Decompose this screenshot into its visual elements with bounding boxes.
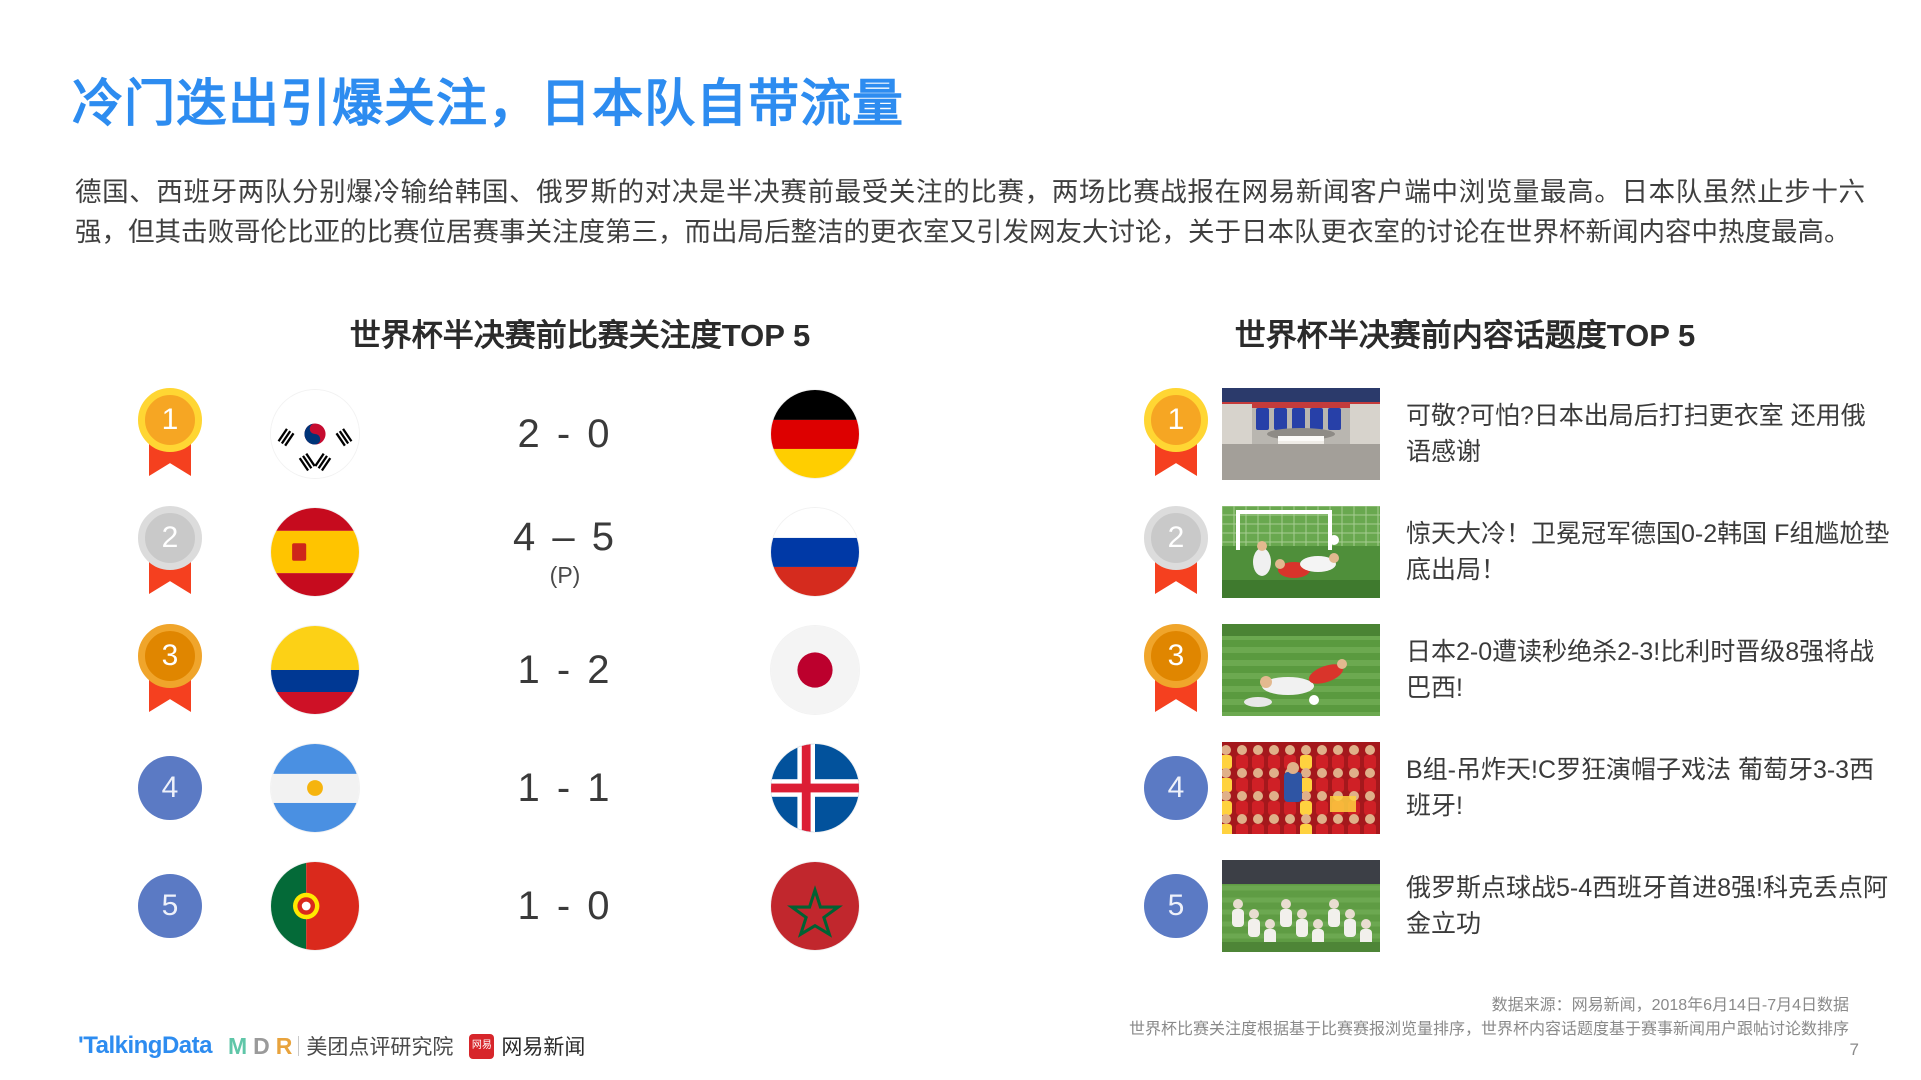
news-headline: 俄罗斯点球战5-4西班牙首进8强!科克丢点阿金立功 xyxy=(1380,870,1890,942)
rank-number: 1 xyxy=(1144,388,1208,452)
rank-cell: 2 xyxy=(110,506,230,598)
score-cell: 2 - 0 xyxy=(400,412,730,457)
rank-cell: 5 xyxy=(110,874,230,938)
page-title: 冷门迭出引爆关注，日本队自带流量 xyxy=(72,62,904,136)
team-a-cell xyxy=(230,744,400,832)
slide-root: 冷门迭出引爆关注，日本队自带流量 德国、西班牙两队分别爆冷输给韩国、俄罗斯的对决… xyxy=(0,0,1921,1080)
team-a-cell xyxy=(230,626,400,714)
rank-number: 1 xyxy=(138,388,202,452)
match-row: 51 - 0 xyxy=(110,847,900,965)
medal-badge-3: 3 xyxy=(138,624,202,716)
match-row: 41 - 1 xyxy=(110,729,900,847)
rank-badge-5: 5 xyxy=(138,874,202,938)
rank-number: 3 xyxy=(1144,624,1208,688)
rank-number: 3 xyxy=(138,624,202,688)
mdr-letter-r: R xyxy=(276,1033,292,1060)
rank-cell: 4 xyxy=(110,756,230,820)
mdr-letter-d: D xyxy=(253,1033,269,1060)
flag-germany-icon xyxy=(771,390,859,478)
rank-badge-4: 4 xyxy=(1144,756,1208,820)
news-headline: 可敬?可怕?日本出局后打扫更衣室 还用俄语感谢 xyxy=(1380,398,1890,470)
team-b-cell xyxy=(730,626,900,714)
score-cell: 4 – 5(P) xyxy=(400,515,730,589)
match-row: 31 - 2 xyxy=(110,611,900,729)
rank-number: 2 xyxy=(138,506,202,570)
footer-logos: 'TalkingData M D R 美团点评研究院 网易 网易新闻 xyxy=(78,1031,585,1061)
flag-iceland-icon xyxy=(771,744,859,832)
team-b-cell xyxy=(730,744,900,832)
team-b-cell xyxy=(730,862,900,950)
news-row[interactable]: 4B组-吊炸天!C罗狂演帽子戏法 葡萄牙3-3西班牙! xyxy=(1130,729,1890,847)
news-thumbnail-player-on-ground-photo[interactable] xyxy=(1222,624,1380,716)
rank-cell: 5 xyxy=(1130,874,1222,938)
netease-logo-text: 网易新闻 xyxy=(501,1031,585,1061)
score-cell: 1 - 2 xyxy=(400,648,730,693)
rank-cell: 4 xyxy=(1130,756,1222,820)
match-score: 1 - 2 xyxy=(517,648,612,693)
match-ranking-list: 1 2 - 024 – 5(P)31 - 241 - 151 - 0 xyxy=(110,375,900,965)
news-thumbnail-celebration-photo[interactable] xyxy=(1222,860,1380,952)
medal-badge-2: 2 xyxy=(1144,506,1208,598)
match-score: 1 - 1 xyxy=(517,766,612,811)
news-thumbnail-red-crowd-photo[interactable] xyxy=(1222,742,1380,834)
logo-divider xyxy=(298,1036,299,1056)
medal-badge-1: 1 xyxy=(1144,388,1208,480)
rank-cell: 2 xyxy=(1130,506,1222,598)
flag-portugal-icon xyxy=(271,862,359,950)
news-row[interactable]: 2惊天大冷！卫冕冠军德国0-2韩国 F组尴尬垫底出局！ xyxy=(1130,493,1890,611)
page-number: 7 xyxy=(1850,1040,1859,1060)
flag-japan-icon xyxy=(771,626,859,714)
news-row[interactable]: 1可敬?可怕?日本出局后打扫更衣室 还用俄语感谢 xyxy=(1130,375,1890,493)
match-score: 1 - 0 xyxy=(517,884,612,929)
mdr-logo-text: 美团点评研究院 xyxy=(306,1031,453,1061)
rank-cell: 3 xyxy=(1130,624,1222,716)
rank-badge-4: 4 xyxy=(138,756,202,820)
rank-cell: 1 xyxy=(110,388,230,480)
source-line-2: 世界杯比赛关注度根据基于比赛赛报浏览量排序，世界杯内容话题度基于赛事新闻用户跟帖… xyxy=(1129,1018,1849,1042)
news-thumbnail-goal-save-photo[interactable] xyxy=(1222,506,1380,598)
match-row: 24 – 5(P) xyxy=(110,493,900,611)
score-cell: 1 - 0 xyxy=(400,884,730,929)
news-headline: 惊天大冷！卫冕冠军德国0-2韩国 F组尴尬垫底出局！ xyxy=(1380,516,1890,588)
news-row[interactable]: 3日本2-0遭读秒绝杀2-3!比利时晋级8强将战巴西! xyxy=(1130,611,1890,729)
medal-badge-2: 2 xyxy=(138,506,202,598)
medal-badge-3: 3 xyxy=(1144,624,1208,716)
news-thumbnail-locker-room-photo[interactable] xyxy=(1222,388,1380,480)
team-a-cell xyxy=(230,862,400,950)
talkingdata-logo-text: TalkingData xyxy=(83,1032,212,1059)
talkingdata-logo: 'TalkingData xyxy=(78,1032,212,1060)
mdr-logo: M D R 美团点评研究院 xyxy=(228,1031,453,1061)
news-ranking-list: 1可敬?可怕?日本出局后打扫更衣室 还用俄语感谢2惊天大冷！卫冕冠军德国0-2韩… xyxy=(1130,375,1890,965)
medal-badge-1: 1 xyxy=(138,388,202,480)
netease-logo: 网易 网易新闻 xyxy=(469,1031,585,1061)
news-headline: 日本2-0遭读秒绝杀2-3!比利时晋级8强将战巴西! xyxy=(1380,634,1890,706)
team-a-cell xyxy=(230,508,400,596)
team-b-cell xyxy=(730,508,900,596)
right-section-heading: 世界杯半决赛前内容话题度TOP 5 xyxy=(1140,310,1790,355)
intro-paragraph: 德国、西班牙两队分别爆冷输给韩国、俄罗斯的对决是半决赛前最受关注的比赛，两场比赛… xyxy=(75,172,1865,252)
match-row: 1 2 - 0 xyxy=(110,375,900,493)
rank-badge-5: 5 xyxy=(1144,874,1208,938)
rank-cell: 1 xyxy=(1130,388,1222,480)
flag-south-korea-icon xyxy=(271,390,359,478)
team-b-cell xyxy=(730,390,900,478)
rank-number: 2 xyxy=(1144,506,1208,570)
match-score: 4 – 5 xyxy=(513,515,617,560)
flag-colombia-icon xyxy=(271,626,359,714)
mdr-letter-m: M xyxy=(228,1033,246,1060)
flag-spain-icon xyxy=(271,508,359,596)
netease-badge-icon: 网易 xyxy=(469,1034,494,1059)
flag-morocco-icon xyxy=(771,862,859,950)
score-cell: 1 - 1 xyxy=(400,766,730,811)
rank-cell: 3 xyxy=(110,624,230,716)
score-note: (P) xyxy=(550,562,581,589)
match-score: 2 - 0 xyxy=(517,412,612,457)
source-line-1: 数据来源：网易新闻，2018年6月14日-7月4日数据 xyxy=(1129,994,1849,1018)
flag-argentina-icon xyxy=(271,744,359,832)
team-a-cell xyxy=(230,390,400,478)
data-source-note: 数据来源：网易新闻，2018年6月14日-7月4日数据 世界杯比赛关注度根据基于… xyxy=(1129,994,1849,1042)
news-row[interactable]: 5俄罗斯点球战5-4西班牙首进8强!科克丢点阿金立功 xyxy=(1130,847,1890,965)
news-headline: B组-吊炸天!C罗狂演帽子戏法 葡萄牙3-3西班牙! xyxy=(1380,752,1890,824)
flag-russia-icon xyxy=(771,508,859,596)
left-section-heading: 世界杯半决赛前比赛关注度TOP 5 xyxy=(280,310,880,355)
